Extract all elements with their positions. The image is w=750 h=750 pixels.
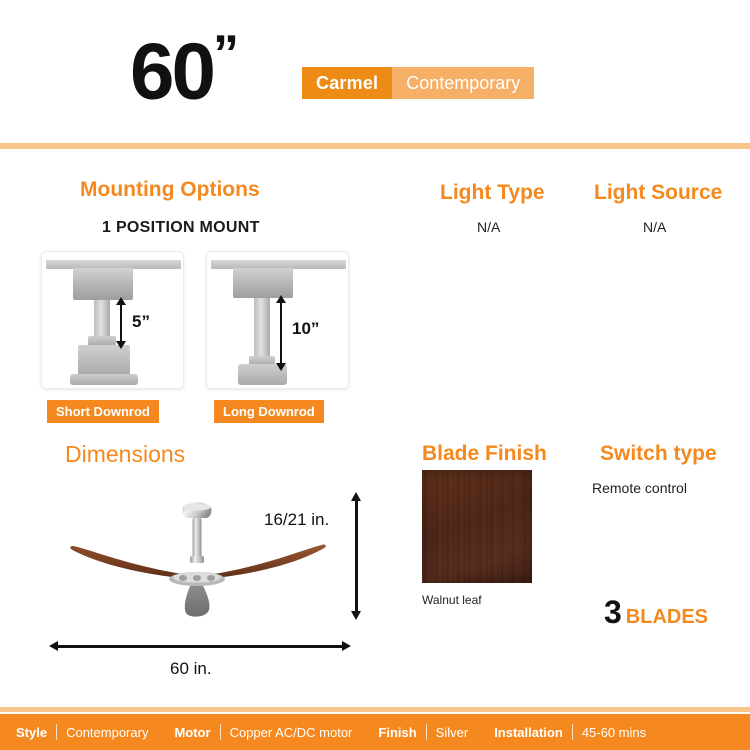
mounting-position-subtitle: 1 POSITION MOUNT	[102, 220, 260, 236]
dimensions-title: Dimensions	[65, 443, 185, 466]
footer-separator	[220, 724, 221, 740]
footer-value-motor: Copper AC/DC motor	[230, 726, 353, 739]
blade-finish-caption: Walnut leaf	[422, 594, 482, 606]
fan-width-arrow	[57, 645, 343, 648]
mounting-options-title: Mounting Options	[80, 179, 260, 200]
model-style-badge: Carmel Contemporary	[302, 67, 534, 99]
short-downrod-measure-label: 5”	[132, 313, 150, 330]
fan-height-arrow	[355, 500, 358, 612]
footer-key-finish: Finish	[378, 726, 416, 739]
page-title: 60”	[130, 28, 237, 112]
long-downrod-badge: Long Downrod	[214, 400, 324, 423]
blade-finish-title: Blade Finish	[422, 443, 547, 464]
long-downrod-measure-label: 10”	[292, 320, 319, 337]
canopy-graphic	[73, 268, 133, 300]
footer-separator	[426, 724, 427, 740]
fan-blade-front	[185, 584, 210, 617]
light-type-title: Light Type	[440, 182, 545, 203]
ceiling-fan-illustration	[55, 485, 340, 625]
switch-type-title: Switch type	[600, 443, 717, 464]
fan-width-label: 60 in.	[170, 660, 212, 677]
footer-item-finish: Finish Silver	[378, 724, 468, 740]
blade-count: 3BLADES	[604, 596, 708, 628]
footer-value-finish: Silver	[436, 726, 469, 739]
header-divider	[0, 143, 750, 149]
canopy-graphic	[233, 268, 293, 298]
model-name-badge: Carmel	[302, 67, 392, 99]
footer-value-installation: 45-60 mins	[582, 726, 646, 739]
footer-key-style: Style	[16, 726, 47, 739]
footer-separator	[572, 724, 573, 740]
blade-count-number: 3	[604, 594, 622, 630]
inch-symbol: ”	[213, 25, 237, 83]
footer-item-motor: Motor Copper AC/DC motor	[174, 724, 352, 740]
blade-finish-swatch	[422, 470, 532, 583]
footer-item-installation: Installation 45-60 mins	[494, 724, 646, 740]
light-source-title: Light Source	[594, 182, 722, 203]
product-spec-infographic: 60” Carmel Contemporary Mounting Options…	[0, 0, 750, 750]
footer-spec-bar: Style Contemporary Motor Copper AC/DC mo…	[0, 714, 750, 750]
short-downrod-badge: Short Downrod	[47, 400, 159, 423]
style-name-badge: Contemporary	[392, 67, 534, 99]
footer-key-motor: Motor	[174, 726, 210, 739]
fan-downrod	[193, 518, 202, 560]
long-downrod-diagram: 10”	[206, 251, 349, 389]
fan-height-label: 16/21 in.	[264, 511, 329, 528]
downrod-graphic	[254, 298, 270, 358]
motor-housing-graphic	[78, 345, 130, 377]
footer-item-style: Style Contemporary	[16, 724, 148, 740]
footer-key-installation: Installation	[494, 726, 563, 739]
footer-divider	[0, 707, 750, 712]
footer-value-style: Contemporary	[66, 726, 148, 739]
footer-separator	[56, 724, 57, 740]
light-type-value: N/A	[477, 220, 500, 234]
downrod-graphic	[94, 300, 110, 336]
fan-blade-left	[70, 546, 191, 579]
fan-blade-right	[205, 544, 326, 579]
light-source-value: N/A	[643, 220, 666, 234]
short-downrod-measure-arrow	[120, 304, 122, 342]
blade-count-word: BLADES	[626, 606, 708, 628]
fan-size-value: 60	[130, 27, 213, 116]
switch-type-value: Remote control	[592, 481, 687, 495]
long-downrod-measure-arrow	[280, 302, 282, 364]
motor-base-graphic	[70, 374, 138, 385]
short-downrod-diagram: 5”	[41, 251, 184, 389]
